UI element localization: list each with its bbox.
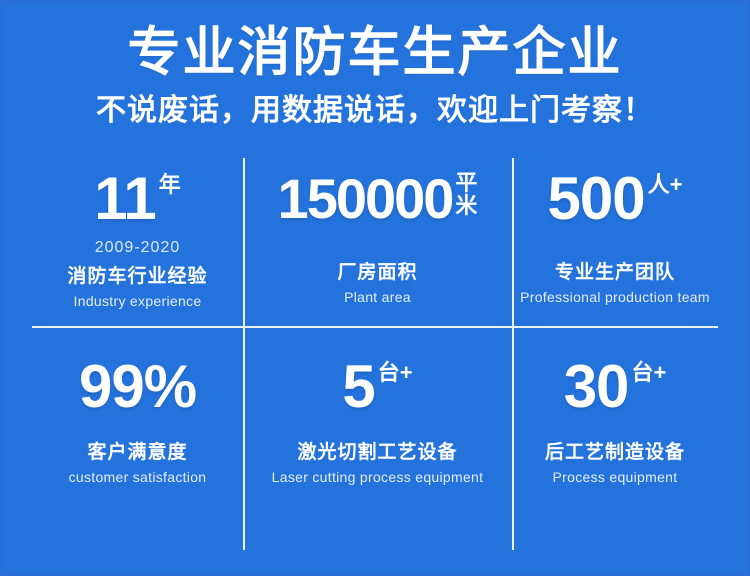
banner-header: 专业消防车生产企业 不说废话，用数据说话，欢迎上门考察！	[0, 0, 750, 132]
stats-grid: 11 年 2009-2020 消防车行业经验 Industry experien…	[32, 158, 718, 524]
promo-banner: 专业消防车生产企业 不说废话，用数据说话，欢迎上门考察！ 11 年 2009-2…	[0, 0, 750, 576]
stat-cell-process-equipment: 30 台+ 后工艺制造设备 Process equipment	[512, 328, 718, 524]
stat-value: 99%	[79, 356, 196, 418]
stat-year-range: 2009-2020	[95, 238, 181, 258]
stat-cell-laser-cutting-equipment: 5 台+ 激光切割工艺设备 Laser cutting process equi…	[243, 328, 512, 524]
stat-value-line: 99%	[79, 356, 196, 418]
grid-divider-vertical-right-lower	[512, 364, 514, 550]
subheadline: 不说废话，用数据说话，欢迎上门考察！	[0, 90, 750, 132]
headline: 专业消防车生产企业	[0, 22, 750, 84]
stat-label-cn: 专业生产团队	[555, 260, 675, 286]
stat-unit: 台+	[631, 361, 666, 385]
stat-unit-line-1: 平	[455, 171, 477, 194]
stat-label-en: Laser cutting process equipment	[272, 467, 484, 487]
stat-cell-production-team: 500 人+ 专业生产团队 Professional production te…	[512, 158, 718, 328]
stat-value: 500	[548, 168, 645, 230]
stat-unit: 年	[159, 173, 181, 197]
stat-label-cn: 消防车行业经验	[67, 264, 207, 290]
stat-cell-customer-satisfaction: 99% 客户满意度 customer satisfaction	[32, 328, 243, 524]
grid-divider-vertical-left-lower	[243, 364, 245, 550]
stat-label-cn: 激光切割工艺设备	[297, 440, 457, 466]
stat-unit: 人+	[648, 173, 683, 197]
stat-label-en: Industry experience	[74, 291, 202, 311]
stat-label-cn: 厂房面积	[337, 260, 417, 286]
stat-label-en: Process equipment	[553, 467, 678, 487]
stat-label-en: Plant area	[344, 287, 411, 307]
stat-unit-line-2: 米	[455, 194, 477, 217]
stat-label-en: Professional production team	[520, 287, 710, 307]
stat-value-line: 30 台+	[564, 356, 667, 418]
stat-cell-plant-area: 150000 平 米 厂房面积 Plant area	[243, 158, 512, 328]
stat-value-line: 500 人+	[548, 168, 683, 230]
stat-unit: 平 米	[455, 171, 477, 217]
stat-label-cn: 后工艺制造设备	[545, 440, 685, 466]
stat-cell-industry-experience: 11 年 2009-2020 消防车行业经验 Industry experien…	[32, 158, 243, 328]
stat-value-line: 11 年	[94, 168, 180, 230]
stat-value: 30	[564, 356, 629, 418]
stat-value: 11	[94, 168, 155, 230]
stat-label-en: customer satisfaction	[69, 467, 207, 487]
stat-value-line: 5 台+	[342, 356, 412, 418]
stat-unit: 台+	[378, 361, 413, 385]
stat-value: 150000	[278, 168, 453, 230]
stat-value-line: 150000 平 米	[278, 168, 478, 230]
stat-label-cn: 客户满意度	[87, 440, 187, 466]
stat-value: 5	[342, 356, 374, 418]
